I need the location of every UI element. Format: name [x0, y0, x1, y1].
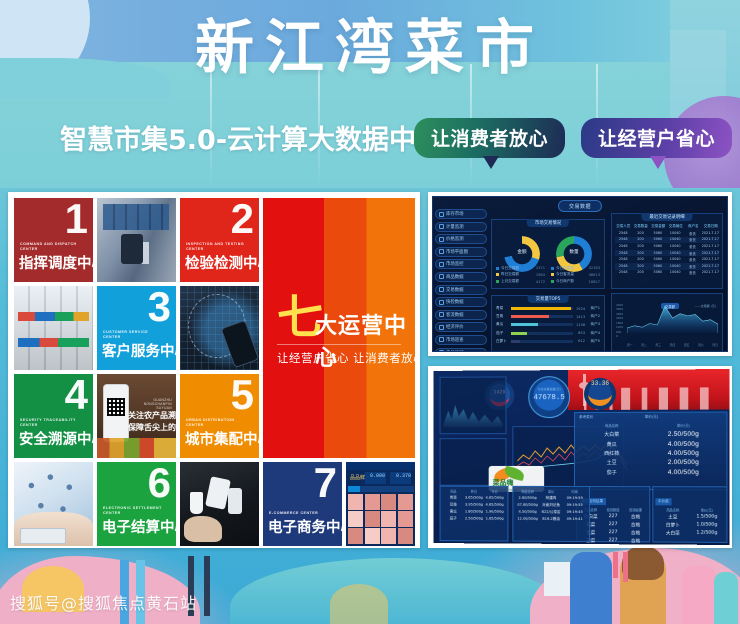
bar-value: 1413: [576, 315, 585, 319]
scale-icon: [439, 224, 444, 229]
tile-electronic-settlement-center[interactable]: 6 ELECTRONIC SETTLEMENT CENTER 电子结算中心: [97, 462, 176, 546]
tile-en-label: SECURITY TRACEABILITY CENTER: [20, 418, 82, 428]
column-header: 商品名称: [517, 489, 538, 494]
tile-en-label: COMMAND AND DISPATCH CENTER: [20, 242, 82, 252]
tile-number: 7: [314, 462, 337, 504]
table-row: 2548200506010040张氏2021.7.17: [615, 256, 719, 263]
tile-number: 3: [148, 286, 171, 328]
sidebar-item-11[interactable]: 产品追溯: [435, 348, 487, 352]
headline-divider: [277, 344, 401, 345]
sidebar-item-3[interactable]: 市场平面图: [435, 247, 487, 257]
poster-en: GUANZHU NONGCHANPIN SUYUAN: [128, 398, 172, 410]
bi-dashboard-screen: 交易数据 库存市场 计量监测 价格监测 市场平面图 市场监控 商品数据 交易数据…: [432, 196, 728, 352]
tile-number: 2: [231, 198, 254, 240]
legend-value: 48613: [589, 273, 600, 277]
panel-header: 市场交易情况: [527, 219, 569, 227]
backdrop-teal-hill: [230, 558, 560, 624]
gauge-total-amount: 今日交易总额(元) 47678.5: [528, 376, 570, 418]
column-header: 商品: [444, 489, 463, 494]
photo-mobile-network: [180, 286, 259, 370]
column-header: 交易金额: [650, 223, 667, 230]
column-header: 单价(元): [691, 508, 723, 513]
table-row: 茄子2.50/500g1.65/500g: [442, 515, 506, 522]
centers-grid: 1 COMMAND AND DISPATCH CENTER 指挥调度中心 2 I…: [14, 198, 414, 542]
people-icon: [439, 312, 444, 317]
cup-graphic: [190, 492, 203, 514]
poster-line-1: 关注农产品溯源: [128, 410, 172, 422]
dashboard-body: 市场交易情况 金额 数量 今日交易额2371 昨日交易额1984 上月交易额41…: [491, 211, 723, 345]
legend-value: 18627: [589, 280, 600, 284]
transaction-table: 交易人员 交易数量 交易金额 交易摊位 商户名 交易日期 25482005060…: [615, 223, 719, 276]
tile-security-traceability-center[interactable]: 4 SECURITY TRACEABILITY CENTER 安全溯源中心: [14, 374, 93, 458]
gauge-caption: 今日交易总额(元): [529, 387, 569, 391]
legend-value: 2371: [536, 266, 545, 270]
trace-icon: [439, 350, 444, 352]
dashboard-sidebar: 库存市场 计量监测 价格监测 市场平面图 市场监控 商品数据 交易数据 快检数据…: [435, 209, 487, 352]
backdrop-figure-coat: [570, 552, 612, 624]
photo-market-shelves: [14, 286, 93, 370]
sidebar-item-8[interactable]: 客流数据: [435, 310, 487, 320]
led-wall-screen: 1429 今日交易总额(元) 47678.5 33.36: [434, 369, 730, 545]
column-header: 交易数量: [633, 223, 650, 230]
backdrop-accent-1: [623, 552, 628, 582]
price-header-row: 商品名称 单价(元): [575, 422, 726, 430]
table-row: 2548200506010040张氏2021.7.17: [615, 243, 719, 250]
donut-label-amount: 金额: [504, 249, 540, 255]
sidebar-item-2[interactable]: 价格监测: [435, 234, 487, 244]
screen-shop-name: 品品鲜: [350, 474, 365, 481]
bar-rank: 商户3: [588, 322, 600, 327]
gauge-value: 33.36: [584, 380, 616, 387]
sidebar-label: 市场监控: [446, 261, 464, 267]
photo-pos-terminal: [180, 462, 259, 546]
sidebar-item-4[interactable]: 市场监控: [435, 259, 487, 269]
legend-item: 昨日交易额1984: [496, 272, 545, 277]
panel-market-transactions: 市场交易情况 金额 数量 今日交易额2371 昨日交易额1984 上月交易额41…: [491, 219, 605, 289]
sidebar-item-6[interactable]: 交易数据: [435, 285, 487, 295]
table-header-row: 交易人员 交易数量 交易金额 交易摊位 商户名 交易日期: [615, 223, 719, 230]
column-header: 检测结果: [625, 507, 645, 512]
sidebar-label: 价格监测: [446, 236, 464, 242]
tile-cn-label: 电子商务中心: [268, 516, 355, 537]
panel-reference-prices: 参考菜价 单价(元) 商品名称 单价(元) 大白菜2.50/500g 黄瓜4.0…: [574, 412, 727, 491]
sidebar-label: 交易数据: [446, 287, 464, 293]
backdrop-shopping-bag: [544, 562, 570, 596]
bar-rank: 商户1: [588, 306, 600, 311]
screen-kpi-1: 0.000: [370, 473, 385, 479]
tile-customer-service-center[interactable]: 3 CUSTOMER SERVICE CENTER 客户服务中心: [97, 286, 176, 370]
headline-slogan: 让经营户省心 让消费者放心: [277, 350, 415, 366]
column-header: 检测数值: [603, 507, 623, 512]
row4-right-group: 7 E-COMMERCE CENTER 电子商务中心 品品鲜 0.000 0.3…: [263, 462, 415, 546]
poster-text: GUANZHU NONGCHANPIN SUYUAN 关注农产品溯源 保障舌尖上…: [128, 398, 172, 434]
table-row: 大白菜1.2/500g: [655, 529, 725, 537]
badge-merchant: 让经营户省心: [581, 118, 732, 158]
tile-number: 5: [231, 374, 254, 416]
gauge-orange: 33.36: [584, 378, 616, 410]
backdrop-accent-2: [613, 552, 618, 578]
camera-icon: [439, 262, 444, 267]
table-header-row: 商品名称 单价(元): [655, 507, 725, 514]
sidebar-label: 产品追溯: [446, 350, 464, 352]
table-header-row: 商品 昨日 今日: [442, 488, 506, 494]
screen-topbar: [346, 462, 415, 470]
bar-name: 黄瓜: [496, 322, 508, 327]
price-row: 大白菜2.50/500g: [575, 430, 726, 440]
legend-item: 今日交易额2371: [496, 266, 545, 271]
bar-track: [511, 307, 573, 310]
sidebar-item-7[interactable]: 快检数据: [435, 297, 487, 307]
photo-control-room: [97, 198, 176, 282]
tile-ecommerce-center[interactable]: 7 E-COMMERCE CENTER 电子商务中心: [263, 462, 342, 546]
panel-price-comparison: 商品 昨日 今日 青菜3.65/500g4.65/500g 豆角3.95/500…: [440, 486, 509, 542]
legend-value: 4172: [536, 280, 545, 284]
panel-top5-transactions: 交易量TOP5 青菜1924商户1 豆角1413商户2 黄瓜1106商户3 茄子…: [491, 295, 605, 352]
panel-recent-sales: 商品名称 单价 时间 2.80/500g阿建肉09:19:59 07.80/50…: [512, 486, 590, 542]
top5-row: 豆角1413商户2: [496, 314, 600, 319]
sidebar-item-9[interactable]: 经济评价: [435, 322, 487, 332]
legend-item: 今日交易量42183: [551, 266, 600, 271]
flask-icon: [439, 300, 444, 305]
area-chart: 交易额 ——交易额 (元) 4200 3600 3000 2400 1800 1…: [616, 303, 718, 347]
sidebar-label: 计量监测: [446, 224, 464, 230]
top5-row: 茄子853商户4: [496, 331, 600, 336]
photo-digital-network: [14, 462, 93, 546]
panel-header: 交易量TOP5: [528, 295, 569, 303]
price-panel-title: 参考菜价 单价(元): [575, 413, 726, 422]
legend-column-right: 今日交易量42183 今日客流量48613 今日商户数18627: [551, 266, 600, 284]
tile-urban-distribution-center[interactable]: 5 URBAN DISTRIBUTION CENTER 城市集配中心: [180, 374, 259, 458]
gauge-value: 47678.5: [529, 394, 569, 402]
column-header: 昨日: [465, 489, 484, 494]
poster-line-2: 保障舌尖上的安全: [128, 422, 172, 434]
tile-en-label: URBAN DISTRIBUTION CENTER: [186, 418, 248, 428]
legend-value: 42183: [589, 266, 600, 270]
legend-column-left: 今日交易额2371 昨日交易额1984 上月交易额4172: [496, 266, 545, 284]
bi-dashboard-card: 交易数据 库存市场 计量监测 价格监测 市场平面图 市场监控 商品数据 交易数据…: [428, 192, 732, 356]
column-header: 商品名称: [579, 423, 645, 428]
column-header: 单价: [540, 489, 562, 494]
led-wall-card: 1429 今日交易总额(元) 47678.5 33.36: [428, 366, 732, 548]
bar-track: [511, 340, 573, 343]
top5-row: 白萝卜612商户5: [496, 339, 600, 344]
bar-name: 茄子: [496, 331, 508, 336]
tile-cn-label: 安全溯源中心: [19, 428, 93, 449]
column-header: 商品名称: [657, 507, 689, 512]
y-axis-ticks: 4200 3600 3000 2400 1800 1200 600 0: [616, 303, 626, 338]
sidebar-label: 库存市场: [446, 211, 464, 217]
badge-consumer: 让消费者放心: [414, 118, 565, 158]
page-title: 新江湾菜市: [0, 14, 740, 82]
tile-cn-label: 检验检测中心: [185, 252, 259, 273]
column-header: 商户名: [685, 223, 702, 230]
legend-value: 1984: [536, 273, 545, 277]
tile-cn-label: 客户服务中心: [102, 340, 176, 361]
sidebar-label: 市场平面图: [446, 249, 468, 255]
header-badges: 让消费者放心 让经营户省心: [414, 118, 732, 158]
bar-value: 612: [576, 339, 585, 343]
backdrop-figure-hair: [622, 546, 664, 580]
table-row: 12.00/500gB16-2粮油09:19:41: [515, 515, 588, 522]
seven-centers-headline: 七 大运营中心 让经营户省心 让消费者放心: [263, 198, 415, 458]
hand-graphic: [184, 516, 222, 542]
watermark: 搜狐号@搜狐焦点黄石站: [10, 590, 197, 614]
tile-number: 6: [148, 462, 171, 504]
table-row: 2548200506010040张氏2021.7.17: [615, 270, 719, 277]
seven-centers-card: 1 COMMAND AND DISPATCH CENTER 指挥调度中心 2 I…: [8, 192, 420, 548]
legend-name: 昨日交易额: [501, 272, 519, 277]
bar-name: 豆角: [496, 314, 508, 319]
legend-name: 今日客流量: [556, 272, 574, 277]
page-root: 新江湾菜市 智慧市集5.0-云计算大数据中心 让消费者放心 让经营户省心 1 C…: [0, 0, 740, 624]
tile-number: 4: [65, 374, 88, 416]
tile-en-label: INSPECTION AND TESTING CENTER: [186, 242, 248, 252]
star-icon: [439, 325, 444, 330]
sidebar-item-0[interactable]: 库存市场: [435, 209, 487, 219]
sidebar-label: 客流数据: [446, 312, 464, 318]
tile-cn-label: 指挥调度中心: [19, 252, 93, 273]
tile-cn-label: 城市集配中心: [185, 428, 259, 449]
table-row: 2548200506010040张氏2021.7.17: [615, 230, 719, 237]
column-header: 交易人员: [615, 223, 632, 230]
page-subtitle: 智慧市集5.0-云计算大数据中心: [60, 118, 440, 157]
legend-item: 今日客流量48613: [551, 272, 600, 277]
photo-ecommerce-screen: 品品鲜 0.000 0.370: [346, 462, 415, 546]
top5-row: 黄瓜1106商户3: [496, 322, 600, 327]
bar-value: 853: [576, 331, 585, 335]
panel-header: 最近交易记录明细: [641, 213, 692, 221]
column-header: 今日: [485, 489, 504, 494]
pos-device-2: [228, 488, 242, 514]
table-row: 2548200506010040张氏2021.7.17: [615, 250, 719, 257]
price-row: 西红柿4.00/500g: [575, 449, 726, 458]
bar-track: [511, 323, 573, 326]
panel-left-chart: [440, 376, 507, 434]
sidebar-label: 经济评价: [446, 324, 464, 330]
screen-tabs: [348, 486, 414, 492]
laptop-graphic: [20, 528, 66, 544]
bar-name: 白萝卜: [496, 339, 508, 344]
price-row: 土豆2.00/500g: [575, 458, 726, 467]
panel-cheap-vegetables: 平价菜 商品名称 单价(元) 土豆1.5/500g 白萝卜1.0/500g 大白…: [652, 486, 727, 543]
sidebar-item-1[interactable]: 计量监测: [435, 222, 487, 232]
price-icon: [439, 237, 444, 242]
sidebar-item-5[interactable]: 商品数据: [435, 272, 487, 282]
top5-bar-list: 青菜1924商户1 豆角1413商户2 黄瓜1106商户3 茄子853商户4 白…: [496, 306, 600, 344]
sidebar-label: 快检数据: [446, 299, 464, 305]
legend-name: 今日交易量: [556, 266, 574, 271]
table-row: 2548200506010040张氏2021.7.17: [615, 237, 719, 244]
area-series: [627, 303, 718, 333]
gauge-arc: [588, 394, 612, 406]
tile-number: 1: [65, 198, 88, 240]
sidebar-label: 市场巡查: [446, 337, 464, 343]
bar-value: 1106: [576, 323, 585, 327]
column-header: 时间: [564, 489, 586, 494]
header-banner: 新江湾菜市 智慧市集5.0-云计算大数据中心 让消费者放心 让经营户省心: [0, 0, 740, 188]
screen-kpi-2: 0.370: [396, 473, 411, 479]
tile-command-dispatch-center[interactable]: 1 COMMAND AND DISPATCH CENTER 指挥调度中心: [14, 198, 93, 282]
vegetable-strip: [97, 438, 176, 458]
column-header: 单价(元): [645, 423, 723, 428]
column-header: 交易日期: [703, 223, 720, 230]
legend-item: 上月交易额4172: [496, 279, 545, 284]
qr-code-icon: [107, 398, 125, 416]
sidebar-item-10[interactable]: 市场巡查: [435, 335, 487, 345]
sidebar-label: 商品数据: [446, 274, 464, 280]
bar-rank: 商户4: [588, 331, 600, 336]
x-axis-ticks: 周一 周二 周三 周四 周五 周六 周日: [627, 343, 718, 347]
table-header-row: 商品名称 单价 时间: [515, 488, 588, 494]
bar-value: 1924: [576, 307, 585, 311]
backdrop-yellow-arc-2: [330, 584, 388, 624]
legend-name: 今日交易额: [501, 266, 519, 271]
chart-icon: [439, 287, 444, 292]
price-row: 黄瓜4.00/500g: [575, 439, 726, 449]
tile-en-label: CUSTOMER SERVICE CENTER: [103, 330, 165, 340]
shop-icon: [439, 212, 444, 217]
top5-row: 青菜1924商户1: [496, 306, 600, 311]
table-row: 2548200506010040张氏2021.7.17: [615, 263, 719, 270]
tile-en-label: ELECTRONIC SETTLEMENT CENTER: [103, 506, 165, 516]
photo-traceability-poster: GUANZHU NONGCHANPIN SUYUAN 关注农产品溯源 保障舌尖上…: [97, 374, 176, 458]
bar-track: [511, 315, 573, 318]
tile-inspection-testing-center[interactable]: 2 INSPECTION AND TESTING CENTER 检验检测中心: [180, 198, 259, 282]
bar-rank: 商户2: [588, 314, 600, 319]
legend-name: 上月交易额: [501, 279, 519, 284]
legend-name: 今日商户数: [556, 279, 574, 284]
panel-transaction-trend: 交易额 ——交易额 (元) 4200 3600 3000 2400 1800 1…: [611, 293, 723, 352]
column-header: 交易摊位: [668, 223, 685, 230]
donut-legends: 今日交易额2371 昨日交易额1984 上月交易额4172 今日交易量42183…: [496, 266, 600, 284]
backdrop-figure-pink: [682, 566, 716, 624]
backdrop-figure-leg-4: [204, 556, 210, 616]
price-title-right: 单价(元): [645, 415, 659, 420]
bar-name: 青菜: [496, 306, 508, 311]
legend-item: 今日商户数18627: [551, 279, 600, 284]
box-icon: [439, 274, 444, 279]
map-icon: [439, 249, 444, 254]
price-title-left: 参考菜价: [579, 415, 645, 420]
panel-header: 平价菜: [655, 498, 672, 505]
screen-product-grid: [348, 494, 413, 544]
clipboard-icon: [439, 337, 444, 342]
backdrop-figure-teal: [714, 572, 738, 624]
tile-cn-label: 电子结算中心: [102, 516, 176, 537]
panel-transaction-table: 最近交易记录明细 交易人员 交易数量 交易金额 交易摊位 商户名 交易日期 25…: [611, 213, 723, 289]
bar-track: [511, 332, 573, 335]
bar-rank: 商户5: [588, 339, 600, 344]
price-row: 茄子4.00/500g: [575, 467, 726, 477]
donut-label-quantity: 数量: [556, 249, 592, 255]
